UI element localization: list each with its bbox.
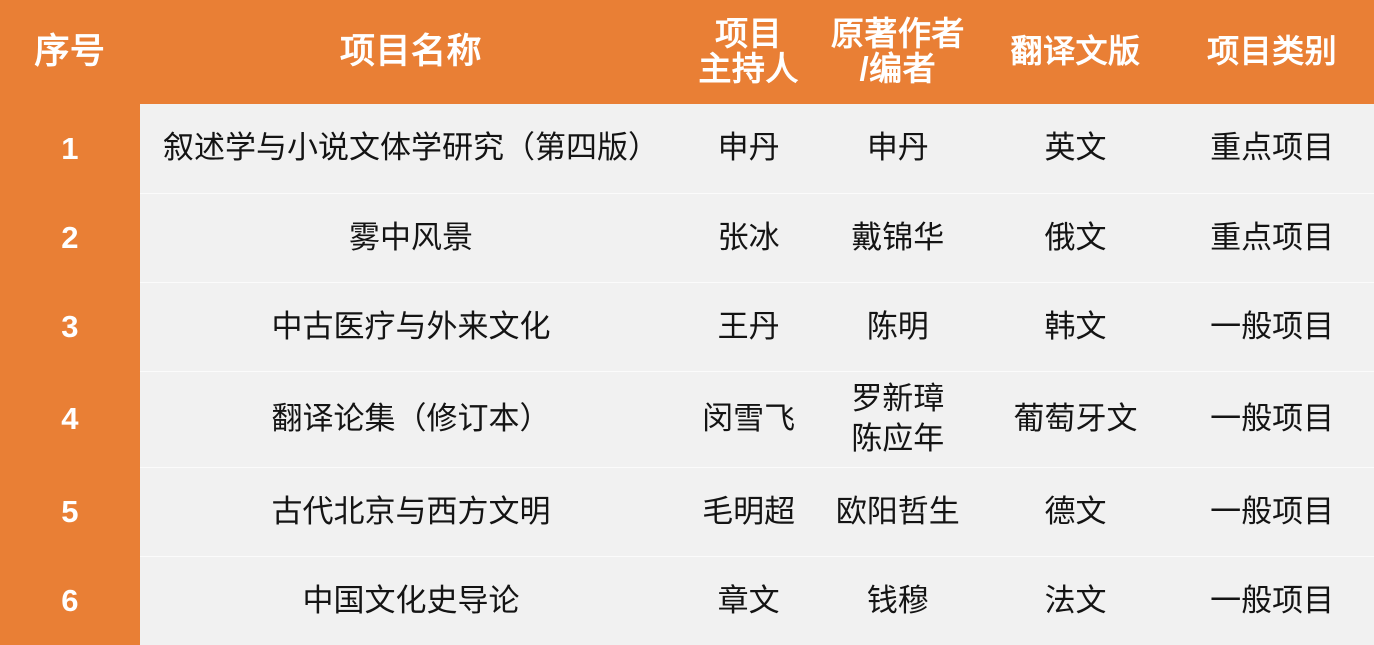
table-row: 5 古代北京与西方文明 毛明超 欧阳哲生 德文 一般项目 [0, 467, 1374, 556]
table-row: 4 翻译论集（修订本） 闵雪飞 罗新璋 陈应年 葡萄牙文 一般项目 [0, 371, 1374, 467]
cell-category: 重点项目 [1170, 104, 1374, 193]
cell-host: 王丹 [682, 282, 815, 371]
cell-seq: 1 [0, 104, 140, 193]
cell-author: 戴锦华 [815, 193, 981, 282]
project-table: 序号 项目名称 项目 主持人 原著作者 /编者 翻译文版 项目类别 [0, 0, 1374, 645]
column-header-title: 项目名称 [140, 0, 682, 104]
table-row: 6 中国文化史导论 章文 钱穆 法文 一般项目 [0, 556, 1374, 645]
cell-author: 欧阳哲生 [815, 467, 981, 556]
cell-host: 张冰 [682, 193, 815, 282]
column-header-seq: 序号 [0, 0, 140, 104]
cell-title: 古代北京与西方文明 [140, 467, 682, 556]
cell-seq: 5 [0, 467, 140, 556]
cell-host: 申丹 [682, 104, 815, 193]
cell-title: 中古医疗与外来文化 [140, 282, 682, 371]
cell-host: 毛明超 [682, 467, 815, 556]
cell-author: 申丹 [815, 104, 981, 193]
table-body: 1 叙述学与小说文体学研究（第四版） 申丹 申丹 英文 重点项目 2 雾中风景 … [0, 104, 1374, 645]
cell-author-line: 罗新璋 [815, 381, 981, 417]
cell-author: 钱穆 [815, 556, 981, 645]
cell-seq: 6 [0, 556, 140, 645]
column-header-language: 翻译文版 [981, 0, 1171, 104]
cell-title: 中国文化史导论 [140, 556, 682, 645]
column-header-author: 原著作者 /编者 [815, 0, 981, 104]
column-header-category-line-1: 项目类别 [1170, 35, 1374, 69]
table-row: 3 中古医疗与外来文化 王丹 陈明 韩文 一般项目 [0, 282, 1374, 371]
cell-host: 闵雪飞 [682, 371, 815, 467]
column-header-author-line-2: /编者 [815, 52, 981, 87]
cell-author: 陈明 [815, 282, 981, 371]
cell-language: 俄文 [981, 193, 1171, 282]
cell-author-line: 申丹 [815, 130, 981, 166]
cell-title: 叙述学与小说文体学研究（第四版） [140, 104, 682, 193]
cell-seq: 2 [0, 193, 140, 282]
cell-category: 一般项目 [1170, 371, 1374, 467]
cell-category: 重点项目 [1170, 193, 1374, 282]
cell-category: 一般项目 [1170, 282, 1374, 371]
cell-language: 英文 [981, 104, 1171, 193]
cell-language: 葡萄牙文 [981, 371, 1171, 467]
column-header-seq-line-1: 序号 [0, 34, 140, 71]
project-table-container: 序号 项目名称 项目 主持人 原著作者 /编者 翻译文版 项目类别 [0, 0, 1374, 639]
column-header-host: 项目 主持人 [682, 0, 815, 104]
table-row: 1 叙述学与小说文体学研究（第四版） 申丹 申丹 英文 重点项目 [0, 104, 1374, 193]
cell-category: 一般项目 [1170, 556, 1374, 645]
cell-author-line: 钱穆 [815, 583, 981, 619]
column-header-author-line-1: 原著作者 [815, 17, 981, 52]
cell-author: 罗新璋 陈应年 [815, 371, 981, 467]
cell-seq: 3 [0, 282, 140, 371]
column-header-title-line-1: 项目名称 [140, 34, 682, 71]
cell-language: 德文 [981, 467, 1171, 556]
table-header-row: 序号 项目名称 项目 主持人 原著作者 /编者 翻译文版 项目类别 [0, 0, 1374, 104]
column-header-host-line-1: 项目 [682, 17, 815, 52]
column-header-host-line-2: 主持人 [682, 52, 815, 87]
cell-author-line: 陈明 [815, 309, 981, 345]
cell-author-line: 陈应年 [815, 421, 981, 457]
cell-author-line: 戴锦华 [815, 220, 981, 256]
column-header-category: 项目类别 [1170, 0, 1374, 104]
table-header: 序号 项目名称 项目 主持人 原著作者 /编者 翻译文版 项目类别 [0, 0, 1374, 104]
cell-seq: 4 [0, 371, 140, 467]
cell-category: 一般项目 [1170, 467, 1374, 556]
cell-host: 章文 [682, 556, 815, 645]
cell-title: 雾中风景 [140, 193, 682, 282]
cell-title: 翻译论集（修订本） [140, 371, 682, 467]
cell-language: 韩文 [981, 282, 1171, 371]
column-header-language-line-1: 翻译文版 [981, 35, 1171, 69]
table-row: 2 雾中风景 张冰 戴锦华 俄文 重点项目 [0, 193, 1374, 282]
cell-author-line: 欧阳哲生 [815, 494, 981, 530]
cell-language: 法文 [981, 556, 1171, 645]
